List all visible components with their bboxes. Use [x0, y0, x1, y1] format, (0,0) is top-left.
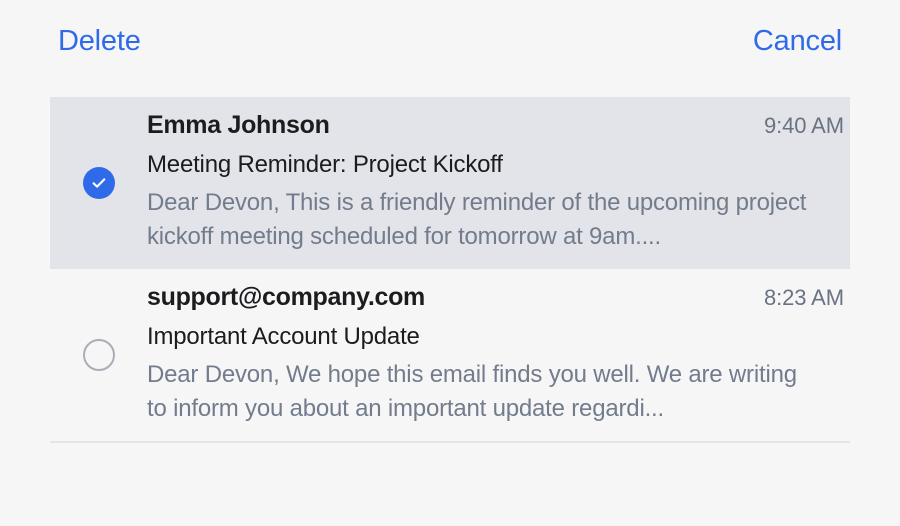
mail-sender: support@company.com [147, 282, 425, 313]
mail-item-header-line: support@company.com 8:23 AM [147, 282, 844, 313]
mail-item-content: Emma Johnson 9:40 AM Meeting Reminder: P… [147, 110, 850, 254]
check-circle-filled-icon[interactable] [83, 167, 115, 199]
list-divider [50, 441, 850, 443]
selection-toggle-cell[interactable] [50, 110, 147, 254]
mail-sender: Emma Johnson [147, 110, 330, 141]
mail-subject: Important Account Update [147, 321, 844, 353]
mail-preview: Dear Devon, This is a friendly reminder … [147, 186, 812, 254]
mail-list: Emma Johnson 9:40 AM Meeting Reminder: P… [0, 84, 900, 443]
selection-toggle-cell[interactable] [50, 282, 147, 426]
circle-outline-icon[interactable] [83, 339, 115, 371]
mail-timestamp: 9:40 AM [764, 112, 844, 140]
mail-timestamp: 8:23 AM [764, 284, 844, 312]
delete-button[interactable]: Delete [58, 26, 141, 58]
mail-item-header-line: Emma Johnson 9:40 AM [147, 110, 844, 141]
mail-subject: Meeting Reminder: Project Kickoff [147, 149, 844, 181]
list-top-spacer [0, 84, 900, 97]
selection-action-bar: Delete Cancel [0, 0, 900, 84]
mail-list-item[interactable]: support@company.com 8:23 AM Important Ac… [50, 269, 850, 441]
cancel-button[interactable]: Cancel [753, 26, 842, 58]
mail-list-item-selected[interactable]: Emma Johnson 9:40 AM Meeting Reminder: P… [50, 97, 850, 269]
mail-item-content: support@company.com 8:23 AM Important Ac… [147, 282, 850, 426]
mail-preview: Dear Devon, We hope this email finds you… [147, 358, 812, 426]
